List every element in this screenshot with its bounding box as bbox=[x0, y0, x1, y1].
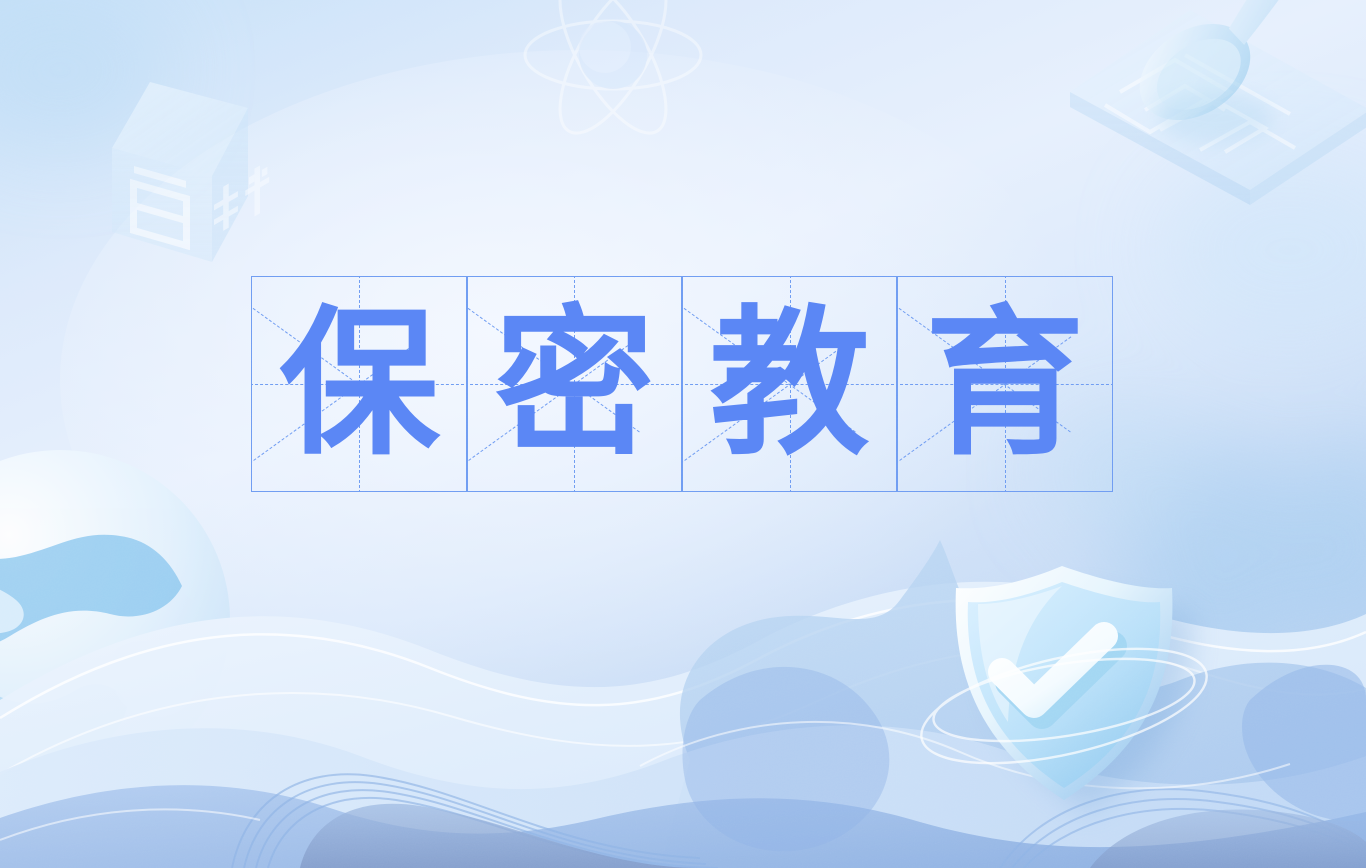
title-character-1: 保 bbox=[279, 304, 439, 464]
tianzige-grid: 保 密 教 育 bbox=[251, 276, 1113, 492]
tianzige-cell-3: 教 bbox=[681, 276, 898, 492]
tianzige-cell-1: 保 bbox=[251, 276, 468, 492]
poster-canvas: 保 密 教 育 bbox=[0, 0, 1366, 868]
title-character-4: 育 bbox=[925, 304, 1085, 464]
title-character-3: 教 bbox=[710, 304, 870, 464]
tianzige-cell-4: 育 bbox=[896, 276, 1113, 492]
tianzige-cell-2: 密 bbox=[466, 276, 683, 492]
title-character-2: 密 bbox=[494, 304, 654, 464]
